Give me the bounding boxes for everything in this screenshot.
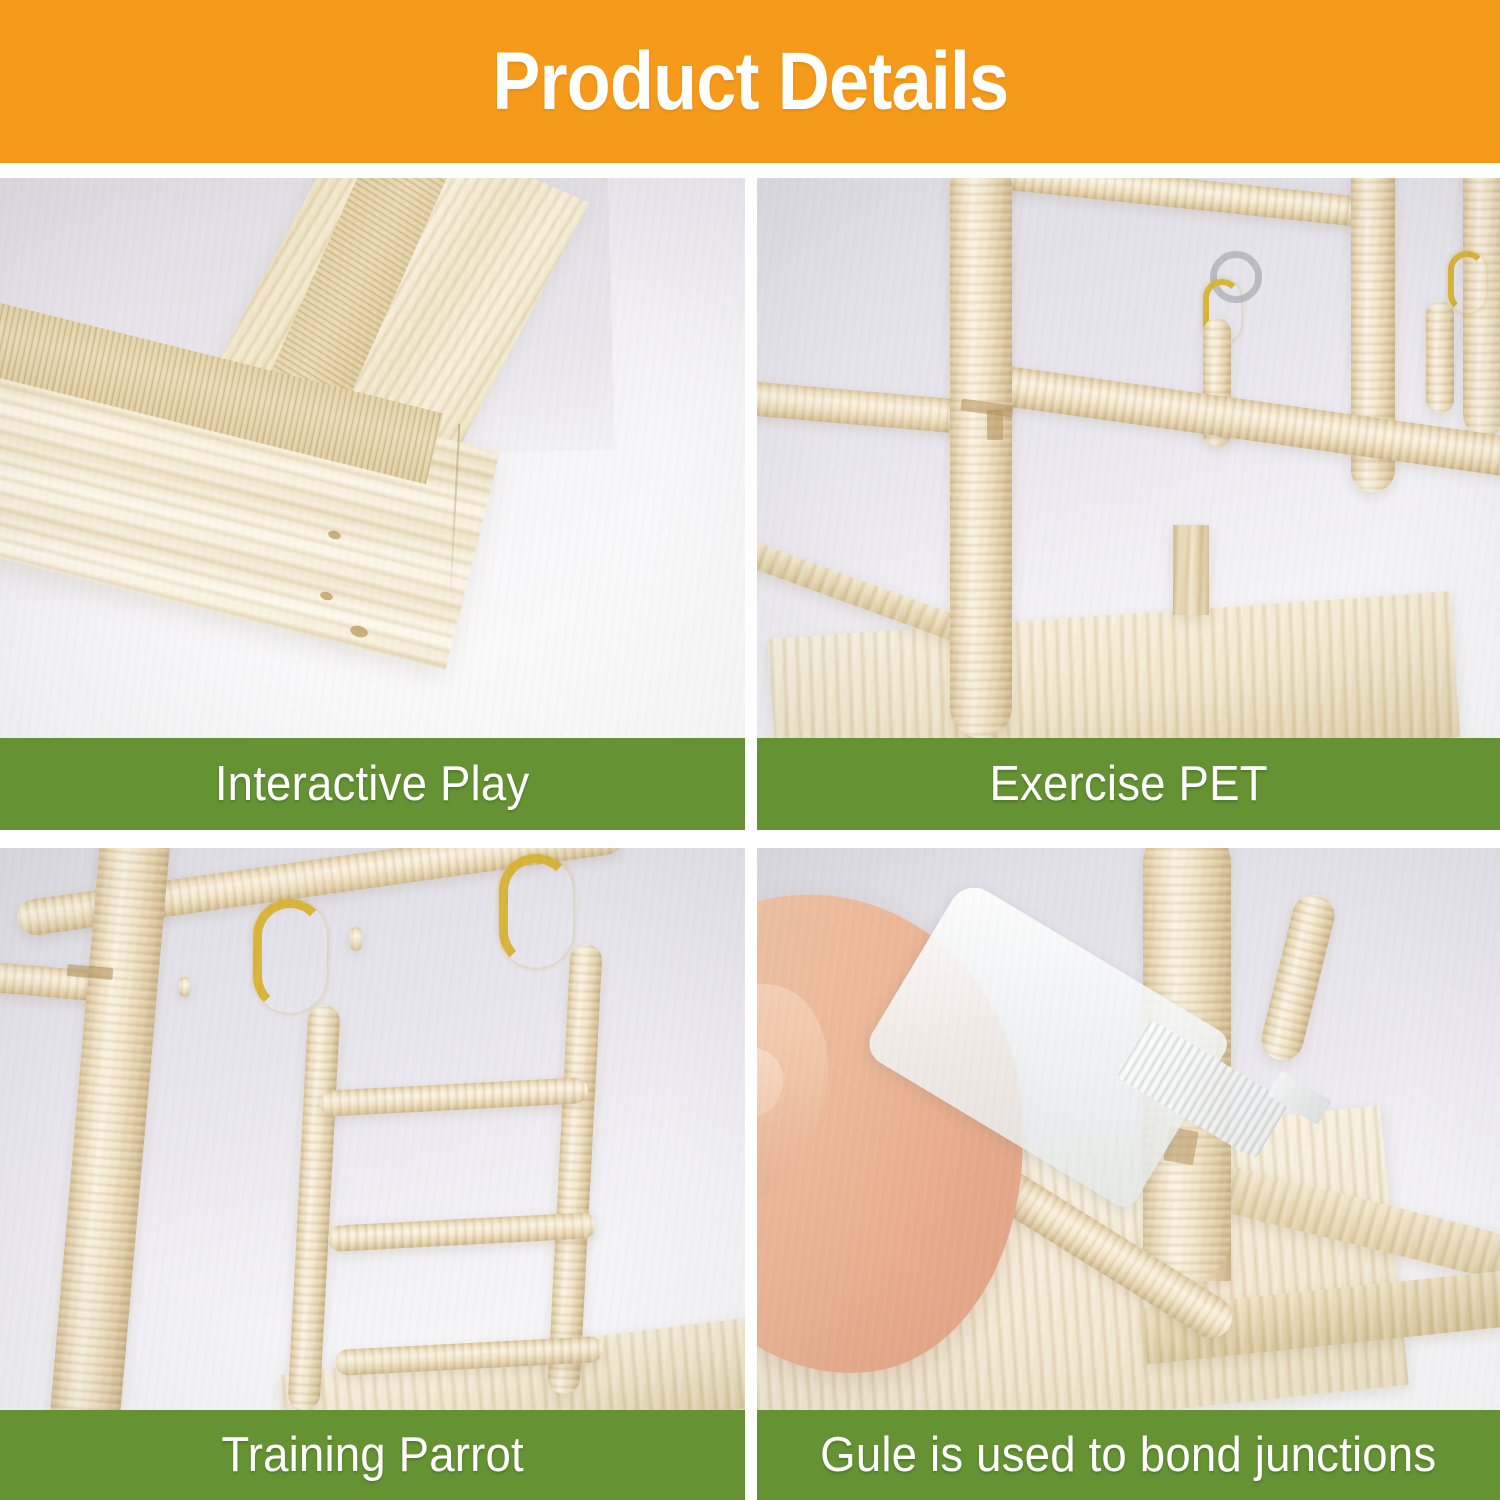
photo-tray-corner (0, 178, 745, 738)
page-title: Product Details (492, 41, 1008, 123)
brass-hook-icon (499, 854, 573, 968)
caption-label: Interactive Play (215, 760, 530, 809)
photo-hanging-ladder (0, 848, 745, 1410)
panel-interactive-play[interactable]: Interactive Play (0, 178, 745, 830)
header-banner: Product Details (0, 0, 1500, 163)
caption-label: Training Parrot (221, 1431, 523, 1480)
caption-bar-interactive-play: Interactive Play (0, 738, 745, 830)
panel-grid: Interactive Play (0, 178, 1500, 1500)
joint-notch (987, 410, 1003, 440)
main-vertical-post (950, 178, 1012, 738)
caption-bar-glue-junctions: Gule is used to bond junctions (757, 1410, 1500, 1500)
caption-label: Exercise PET (989, 760, 1267, 809)
caption-label: Gule is used to bond junctions (820, 1431, 1436, 1480)
product-details-page: Product Details Interactive Play (0, 0, 1500, 1500)
brass-hook-icon (1448, 251, 1486, 313)
panel-training-parrot[interactable]: Training Parrot (0, 848, 745, 1500)
caption-bar-training-parrot: Training Parrot (0, 1410, 745, 1500)
brass-hook-icon (253, 899, 327, 1013)
photo-perch-joints (757, 178, 1500, 738)
perch-peg (350, 927, 362, 951)
panel-glue-junctions[interactable]: Gule is used to bond junctions (757, 848, 1500, 1500)
photo-glue-application (757, 848, 1500, 1410)
caption-bar-exercise-pet: Exercise PET (757, 738, 1500, 830)
perch-peg (179, 977, 190, 997)
panel-exercise-pet[interactable]: Exercise PET (757, 178, 1500, 830)
toy-block-lower (1173, 525, 1209, 615)
hanging-toy-dowel-2 (1426, 301, 1454, 413)
